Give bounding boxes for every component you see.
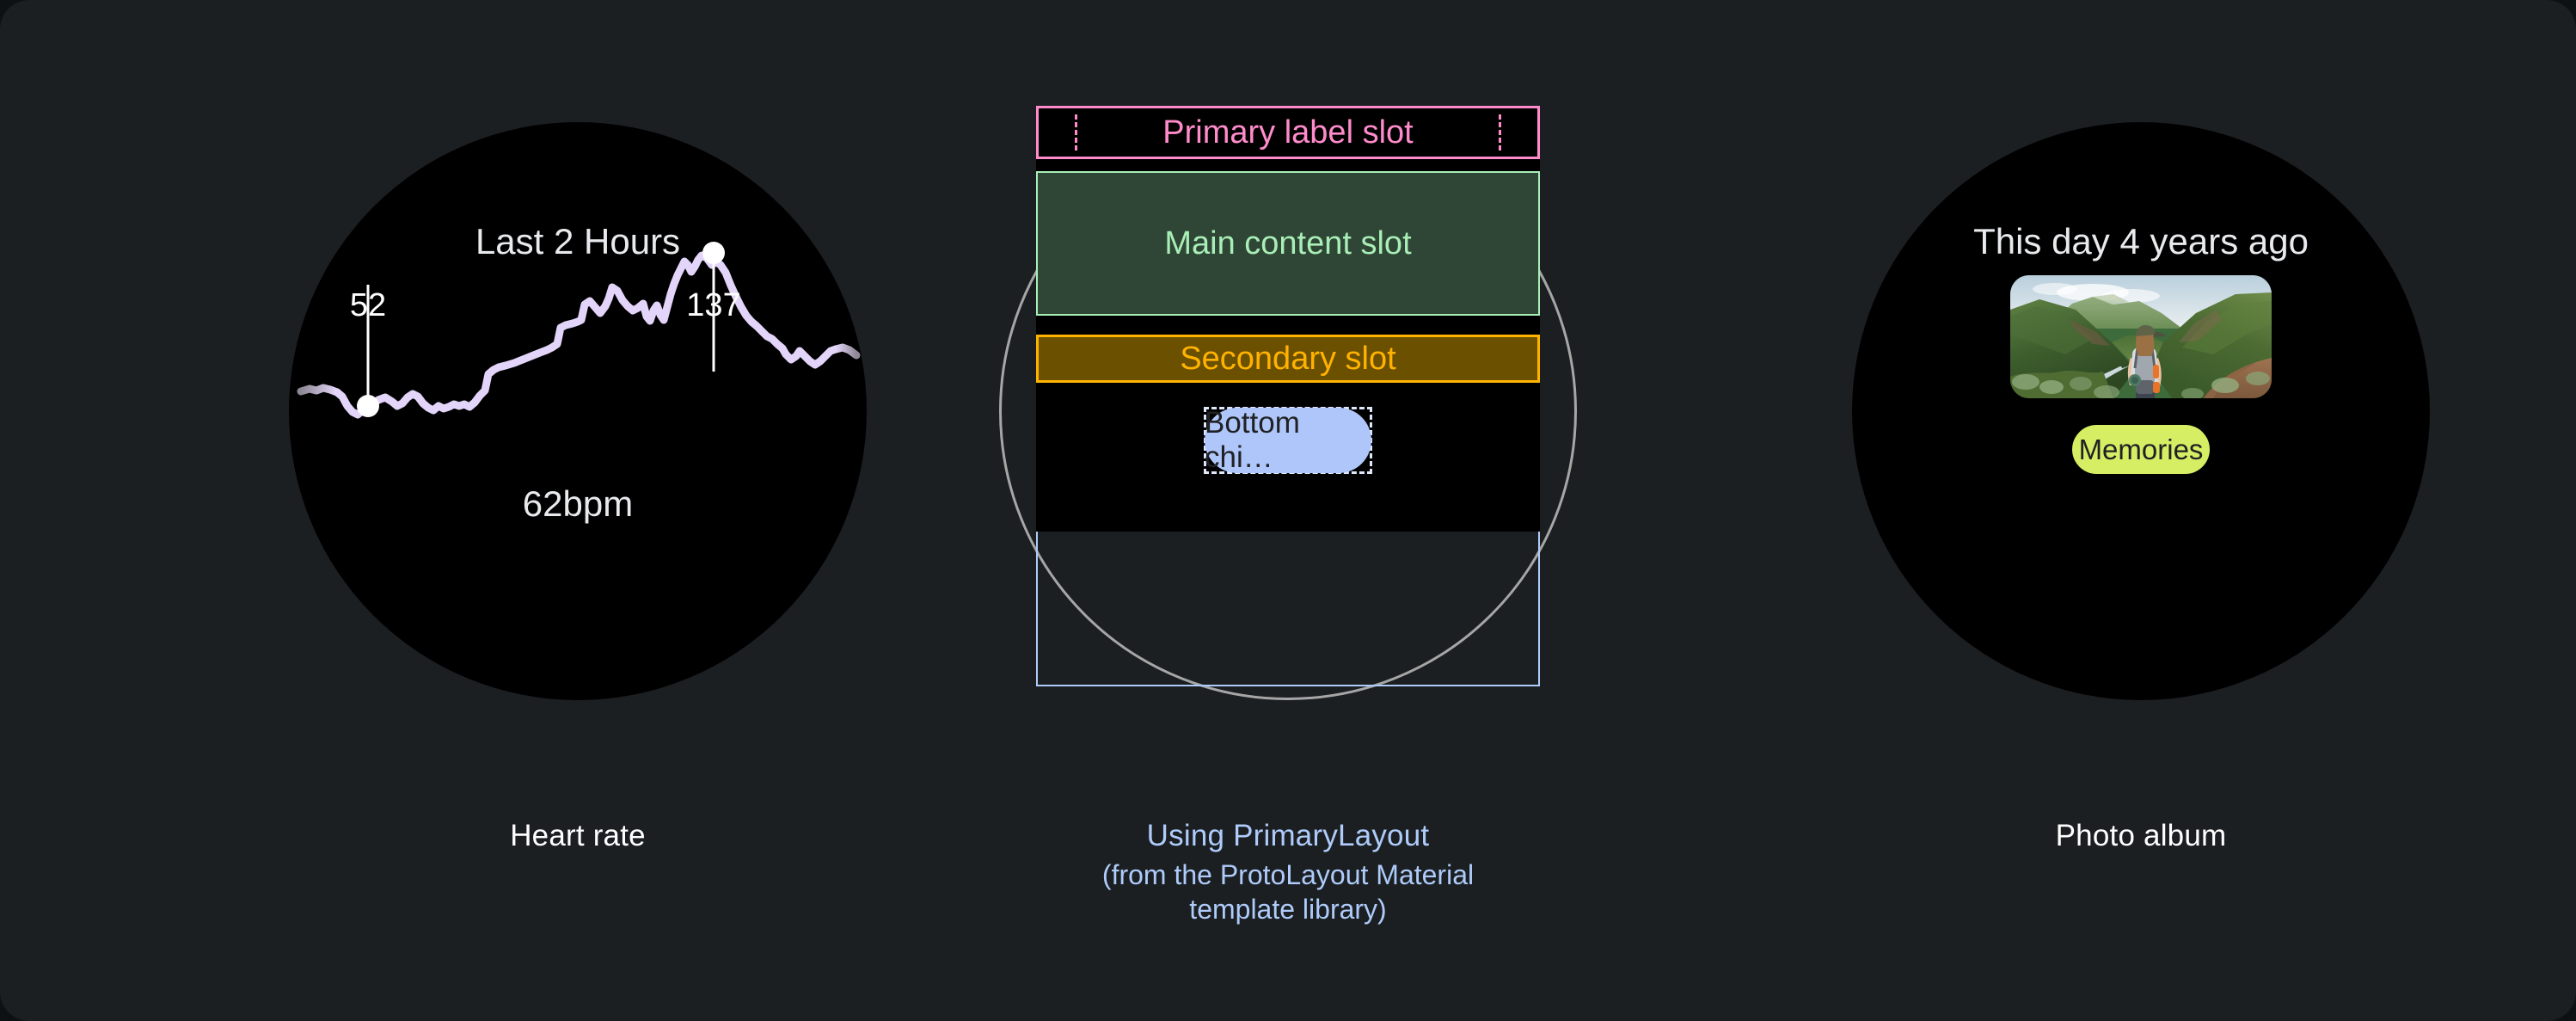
caption-proto-layout-sub-line1: (from the ProtoLayout Material — [870, 858, 1706, 892]
min-marker-dot — [357, 395, 379, 417]
max-marker-dot — [702, 242, 725, 264]
heart-rate-max-label: 137 — [686, 287, 740, 324]
photo-album-title: This day 4 years ago — [1852, 221, 2430, 262]
slot-gap-secondary-bottom — [1036, 383, 1540, 397]
slot-gap-primary-main — [1036, 159, 1540, 171]
panel-photo-album: This day 4 years ago — [1706, 0, 2576, 1021]
screenshot-canvas: Last 2 Hours — [0, 0, 2576, 1021]
slot-gap-main-secondary — [1036, 316, 1540, 335]
caption-proto-layout-sub-line2: template library) — [870, 892, 1706, 926]
caption-proto-layout: Using PrimaryLayout — [870, 819, 1706, 853]
photo-thumbnail[interactable] — [2010, 275, 2272, 398]
slot-secondary-text: Secondary slot — [1180, 341, 1395, 378]
slot-secondary[interactable]: Secondary slot — [1036, 335, 1540, 383]
hiker-valley-photo — [2010, 275, 2272, 398]
primary-label-guide-left — [1075, 114, 1077, 151]
panel-proto-layout: Primary label slot Main content slot Sec… — [870, 0, 1706, 1021]
watch-face-heart-rate[interactable]: Last 2 Hours — [289, 122, 867, 700]
slot-bottom-chip-area: Bottom chi… — [1036, 397, 1540, 532]
bottom-chip-button[interactable]: Bottom chi… — [1205, 408, 1371, 473]
slot-primary-label[interactable]: Primary label slot — [1036, 106, 1540, 159]
layout-slot-stack: Primary label slot Main content slot Sec… — [1036, 106, 1540, 532]
watch-face-photo-album[interactable]: This day 4 years ago — [1852, 122, 2430, 700]
caption-photo-album: Photo album — [1706, 819, 2576, 853]
heart-rate-chart — [289, 122, 867, 700]
slot-main-content-text: Main content slot — [1164, 225, 1411, 262]
bottom-chip-label: Bottom chi… — [1205, 406, 1371, 475]
heart-rate-value: 62bpm — [289, 483, 867, 525]
slot-primary-label-text: Primary label slot — [1162, 114, 1413, 151]
primary-label-guide-right — [1499, 114, 1501, 151]
memories-chip-button[interactable]: Memories — [2072, 425, 2210, 474]
memories-chip-label: Memories — [2079, 434, 2204, 466]
heart-rate-sparkline — [289, 122, 867, 700]
slot-main-content[interactable]: Main content slot — [1036, 171, 1540, 316]
heart-rate-min-label: 52 — [350, 287, 386, 324]
